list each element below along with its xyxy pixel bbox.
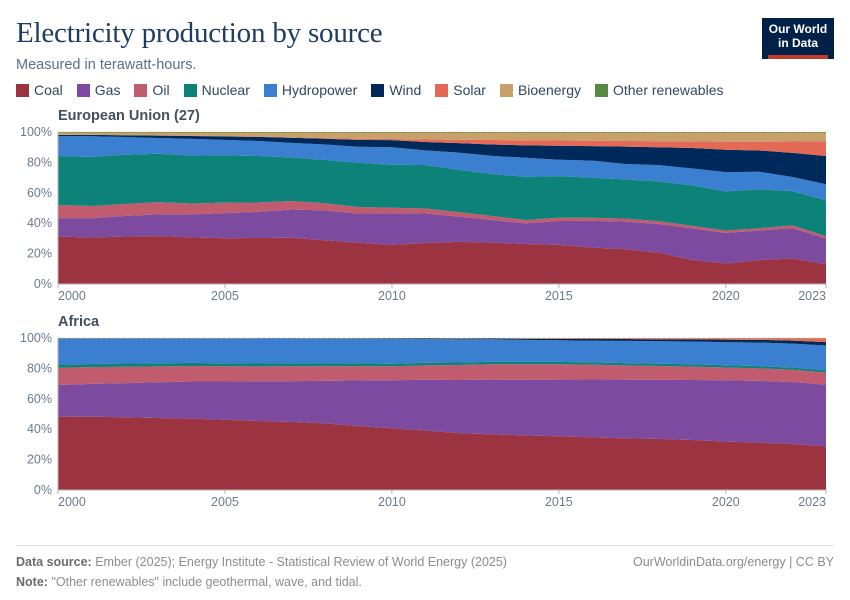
chart-footer: Data source: Ember (2025); Energy Instit… [16,545,834,592]
legend-swatch-icon [16,84,29,97]
y-axis-tick-label: 0% [34,483,52,497]
x-axis-tick-label: 2005 [211,289,239,303]
footer-source-row: Data source: Ember (2025); Energy Instit… [16,553,834,572]
x-axis-tick-label: 2015 [545,495,573,509]
legend-label: Gas [95,82,121,98]
x-axis-tick-label: 2000 [58,289,86,303]
legend-item-solar[interactable]: Solar [435,82,486,98]
x-axis-tick-label: 2000 [58,495,86,509]
legend-label: Other renewables [613,82,724,98]
x-axis-tick-label: 2023 [798,289,826,303]
footer-note-label: Note: [16,575,48,589]
plot-area-africa: 0%20%40%60%80%100%2000200520102015202020… [16,332,834,512]
y-axis-tick-label: 80% [27,155,52,169]
panel-european-union: European Union (27) 0%20%40%60%80%100%20… [16,108,834,306]
footer-note-text: "Other renewables" include geothermal, w… [51,575,361,589]
footer-note-row: Note: "Other renewables" include geother… [16,573,834,592]
x-axis-tick-label: 2015 [545,289,573,303]
legend-swatch-icon [184,84,197,97]
y-axis-tick-label: 20% [27,453,52,467]
page-subtitle: Measured in terawatt-hours. [16,57,834,74]
legend-swatch-icon [264,84,277,97]
legend-swatch-icon [77,84,90,97]
footer-source: Data source: Ember (2025); Energy Instit… [16,553,507,572]
logo-accent-bar [768,55,828,59]
stacked-area-chart-africa[interactable]: 0%20%40%60%80%100%2000200520102015202020… [16,332,836,512]
footer-source-label: Data source: [16,555,92,569]
legend-label: Oil [152,82,169,98]
legend-swatch-icon [595,84,608,97]
legend-item-coal[interactable]: Coal [16,82,63,98]
chart-page: Electricity production by source Measure… [0,0,850,600]
legend-swatch-icon [435,84,448,97]
logo-line-1: Our World [768,23,828,37]
chart-header: Electricity production by source Measure… [16,14,834,76]
footer-note: Note: "Other renewables" include geother… [16,573,362,592]
y-axis-tick-label: 100% [20,332,52,345]
legend-item-bioenergy[interactable]: Bioenergy [500,82,581,98]
legend-swatch-icon [500,84,513,97]
legend-item-hydropower[interactable]: Hydropower [264,82,357,98]
y-axis-tick-label: 40% [27,422,52,436]
y-axis-tick-label: 20% [27,247,52,261]
legend-label: Hydropower [282,82,357,98]
x-axis-tick-label: 2020 [712,289,740,303]
owid-logo[interactable]: Our World in Data [762,18,834,59]
legend-swatch-icon [134,84,147,97]
footer-attribution[interactable]: OurWorldinData.org/energy | CC BY [633,553,834,572]
legend-item-other-renewables[interactable]: Other renewables [595,82,724,98]
legend-label: Coal [34,82,63,98]
y-axis-tick-label: 60% [27,392,52,406]
legend-swatch-icon [371,84,384,97]
panel-title-european-union: European Union (27) [58,108,834,124]
legend-item-gas[interactable]: Gas [77,82,121,98]
x-axis-tick-label: 2010 [378,289,406,303]
legend-item-oil[interactable]: Oil [134,82,169,98]
panel-africa: Africa 0%20%40%60%80%100%200020052010201… [16,314,834,512]
x-axis-tick-label: 2020 [712,495,740,509]
legend-label: Solar [453,82,486,98]
y-axis-tick-label: 0% [34,277,52,291]
page-title: Electricity production by source [16,14,834,50]
y-axis-tick-label: 60% [27,186,52,200]
logo-line-2: in Data [768,37,828,51]
legend-item-nuclear[interactable]: Nuclear [184,82,250,98]
x-axis-tick-label: 2010 [378,495,406,509]
footer-source-text: Ember (2025); Energy Institute - Statist… [95,555,507,569]
chart-legend: CoalGasOilNuclearHydropowerWindSolarBioe… [16,80,834,100]
x-axis-tick-label: 2005 [211,495,239,509]
y-axis-tick-label: 80% [27,361,52,375]
panel-title-africa: Africa [58,314,834,330]
y-axis-tick-label: 100% [20,126,52,139]
legend-label: Bioenergy [518,82,581,98]
legend-label: Wind [389,82,421,98]
y-axis-tick-label: 40% [27,216,52,230]
x-axis-tick-label: 2023 [798,495,826,509]
legend-item-wind[interactable]: Wind [371,82,421,98]
legend-label: Nuclear [202,82,250,98]
plot-area-european-union: 0%20%40%60%80%100%2000200520102015202020… [16,126,834,306]
stacked-area-chart-european-union[interactable]: 0%20%40%60%80%100%2000200520102015202020… [16,126,836,306]
